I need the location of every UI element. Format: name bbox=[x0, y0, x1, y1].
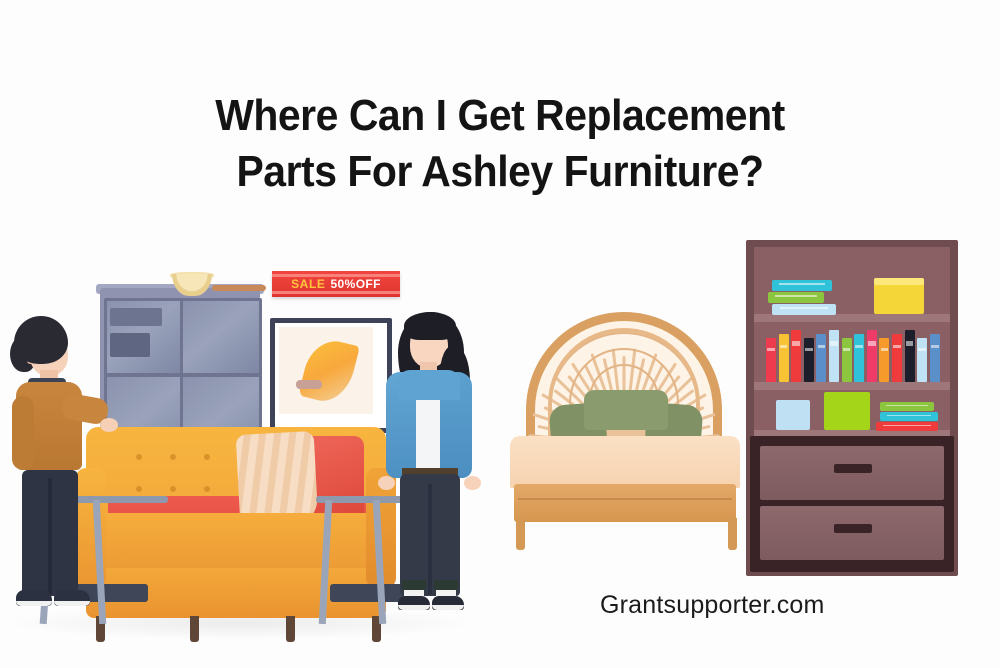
sale-banner-discount: 50%OFF bbox=[330, 277, 380, 291]
bed-mattress bbox=[510, 436, 740, 488]
man-pants-seam bbox=[48, 478, 52, 594]
sofa-tuft bbox=[170, 486, 176, 492]
book-band bbox=[881, 348, 889, 352]
book-band bbox=[780, 345, 788, 349]
stacked-book bbox=[768, 292, 824, 303]
upright-book bbox=[829, 330, 839, 382]
wall-art-bar-shape bbox=[296, 380, 322, 389]
book-band bbox=[855, 345, 863, 349]
book-band bbox=[887, 415, 931, 416]
bed-leg-left bbox=[516, 518, 525, 550]
bed-leg-right bbox=[728, 518, 737, 550]
book-band bbox=[843, 348, 851, 352]
woman-hand-left bbox=[378, 476, 395, 490]
book-band bbox=[805, 348, 813, 352]
drawer-top-handle[interactable] bbox=[834, 464, 872, 473]
book-band bbox=[780, 307, 829, 308]
woman-shoe-right bbox=[432, 596, 464, 610]
upright-book bbox=[867, 330, 877, 382]
woman-cuff-right bbox=[434, 580, 458, 590]
cabinet-shelf-item-1 bbox=[110, 308, 162, 326]
shelf-1-yellow-box-lid bbox=[874, 278, 924, 285]
poster-canvas: Where Can I Get Replacement Parts For As… bbox=[0, 0, 1000, 668]
bed-frame-rail bbox=[514, 484, 736, 522]
sale-banner-word: SALE bbox=[291, 277, 325, 291]
stacked-book bbox=[876, 422, 938, 431]
stacked-book bbox=[772, 280, 832, 291]
woman-pants-seam bbox=[428, 484, 432, 594]
book-band bbox=[906, 341, 914, 345]
woman-jacket-shoulders bbox=[398, 370, 460, 400]
sale-banner: SALE 50%OFF bbox=[272, 271, 400, 297]
upright-book bbox=[816, 334, 826, 382]
bed-illustration bbox=[492, 312, 762, 572]
man-shoe-right bbox=[54, 590, 90, 606]
upright-book bbox=[791, 330, 801, 382]
upright-book bbox=[804, 338, 814, 382]
upright-book bbox=[879, 338, 889, 382]
man-arm-left bbox=[12, 396, 34, 470]
book-band bbox=[893, 345, 901, 349]
bed-pillow-center bbox=[584, 390, 668, 430]
upright-book bbox=[917, 338, 927, 382]
stacked-book bbox=[880, 412, 938, 421]
book-band bbox=[883, 425, 930, 426]
shelf-3-green-box bbox=[824, 392, 870, 430]
sofa-seat bbox=[82, 513, 390, 575]
cabinet-pane-top-right bbox=[180, 298, 262, 376]
book-band bbox=[931, 345, 939, 349]
stacked-book bbox=[772, 304, 836, 315]
sofa-tuft bbox=[170, 454, 176, 460]
book-band bbox=[792, 341, 800, 345]
sofa-leg bbox=[286, 616, 295, 642]
man-shoe-left bbox=[16, 590, 52, 606]
sofa-tuft bbox=[136, 454, 142, 460]
upright-book bbox=[905, 330, 915, 382]
bed-frame-line bbox=[518, 498, 732, 500]
upright-book bbox=[779, 334, 789, 382]
page-title: Where Can I Get Replacement Parts For As… bbox=[35, 88, 965, 200]
drawer-bottom[interactable] bbox=[760, 506, 944, 560]
shelf-board-2 bbox=[754, 382, 950, 390]
bookshelf-illustration bbox=[746, 240, 958, 576]
drawer-bottom-handle[interactable] bbox=[834, 524, 872, 533]
sofa-tuft bbox=[136, 486, 142, 492]
book-band bbox=[868, 341, 876, 345]
shelf-board-1 bbox=[754, 314, 950, 322]
page-title-line-2: Parts For Ashley Furniture? bbox=[35, 144, 965, 200]
woman-cuff-left bbox=[402, 580, 426, 590]
shelf-3-light-blue-box bbox=[776, 400, 810, 430]
sofa-tuft bbox=[204, 486, 210, 492]
upright-book bbox=[842, 338, 852, 382]
book-band bbox=[886, 405, 927, 406]
woman-shoe-left bbox=[398, 596, 430, 610]
sofa-leg bbox=[190, 616, 199, 642]
woman-hand-right bbox=[464, 476, 481, 490]
drawer-top[interactable] bbox=[760, 446, 944, 500]
upright-book bbox=[892, 334, 902, 382]
sofa-tuft bbox=[204, 454, 210, 460]
book-band bbox=[830, 341, 838, 345]
upright-book bbox=[854, 334, 864, 382]
man-hair bbox=[14, 316, 68, 364]
page-title-line-1: Where Can I Get Replacement bbox=[35, 88, 965, 144]
book-band bbox=[918, 348, 926, 352]
book-band bbox=[767, 348, 775, 352]
woman-hair-front bbox=[404, 312, 456, 340]
cabinet-shelf-item-2 bbox=[110, 333, 150, 357]
book-band bbox=[818, 345, 826, 349]
stacked-book bbox=[880, 402, 934, 411]
book-band bbox=[775, 295, 818, 296]
wooden-rod bbox=[212, 285, 266, 291]
upright-book bbox=[766, 338, 776, 382]
furniture-showroom-illustration: SALE SALE 50%OFF SALE bbox=[0, 228, 500, 648]
upright-book bbox=[930, 334, 940, 382]
book-band bbox=[779, 283, 825, 284]
man-hand bbox=[100, 418, 118, 432]
site-watermark: Grantsupporter.com bbox=[600, 591, 825, 620]
